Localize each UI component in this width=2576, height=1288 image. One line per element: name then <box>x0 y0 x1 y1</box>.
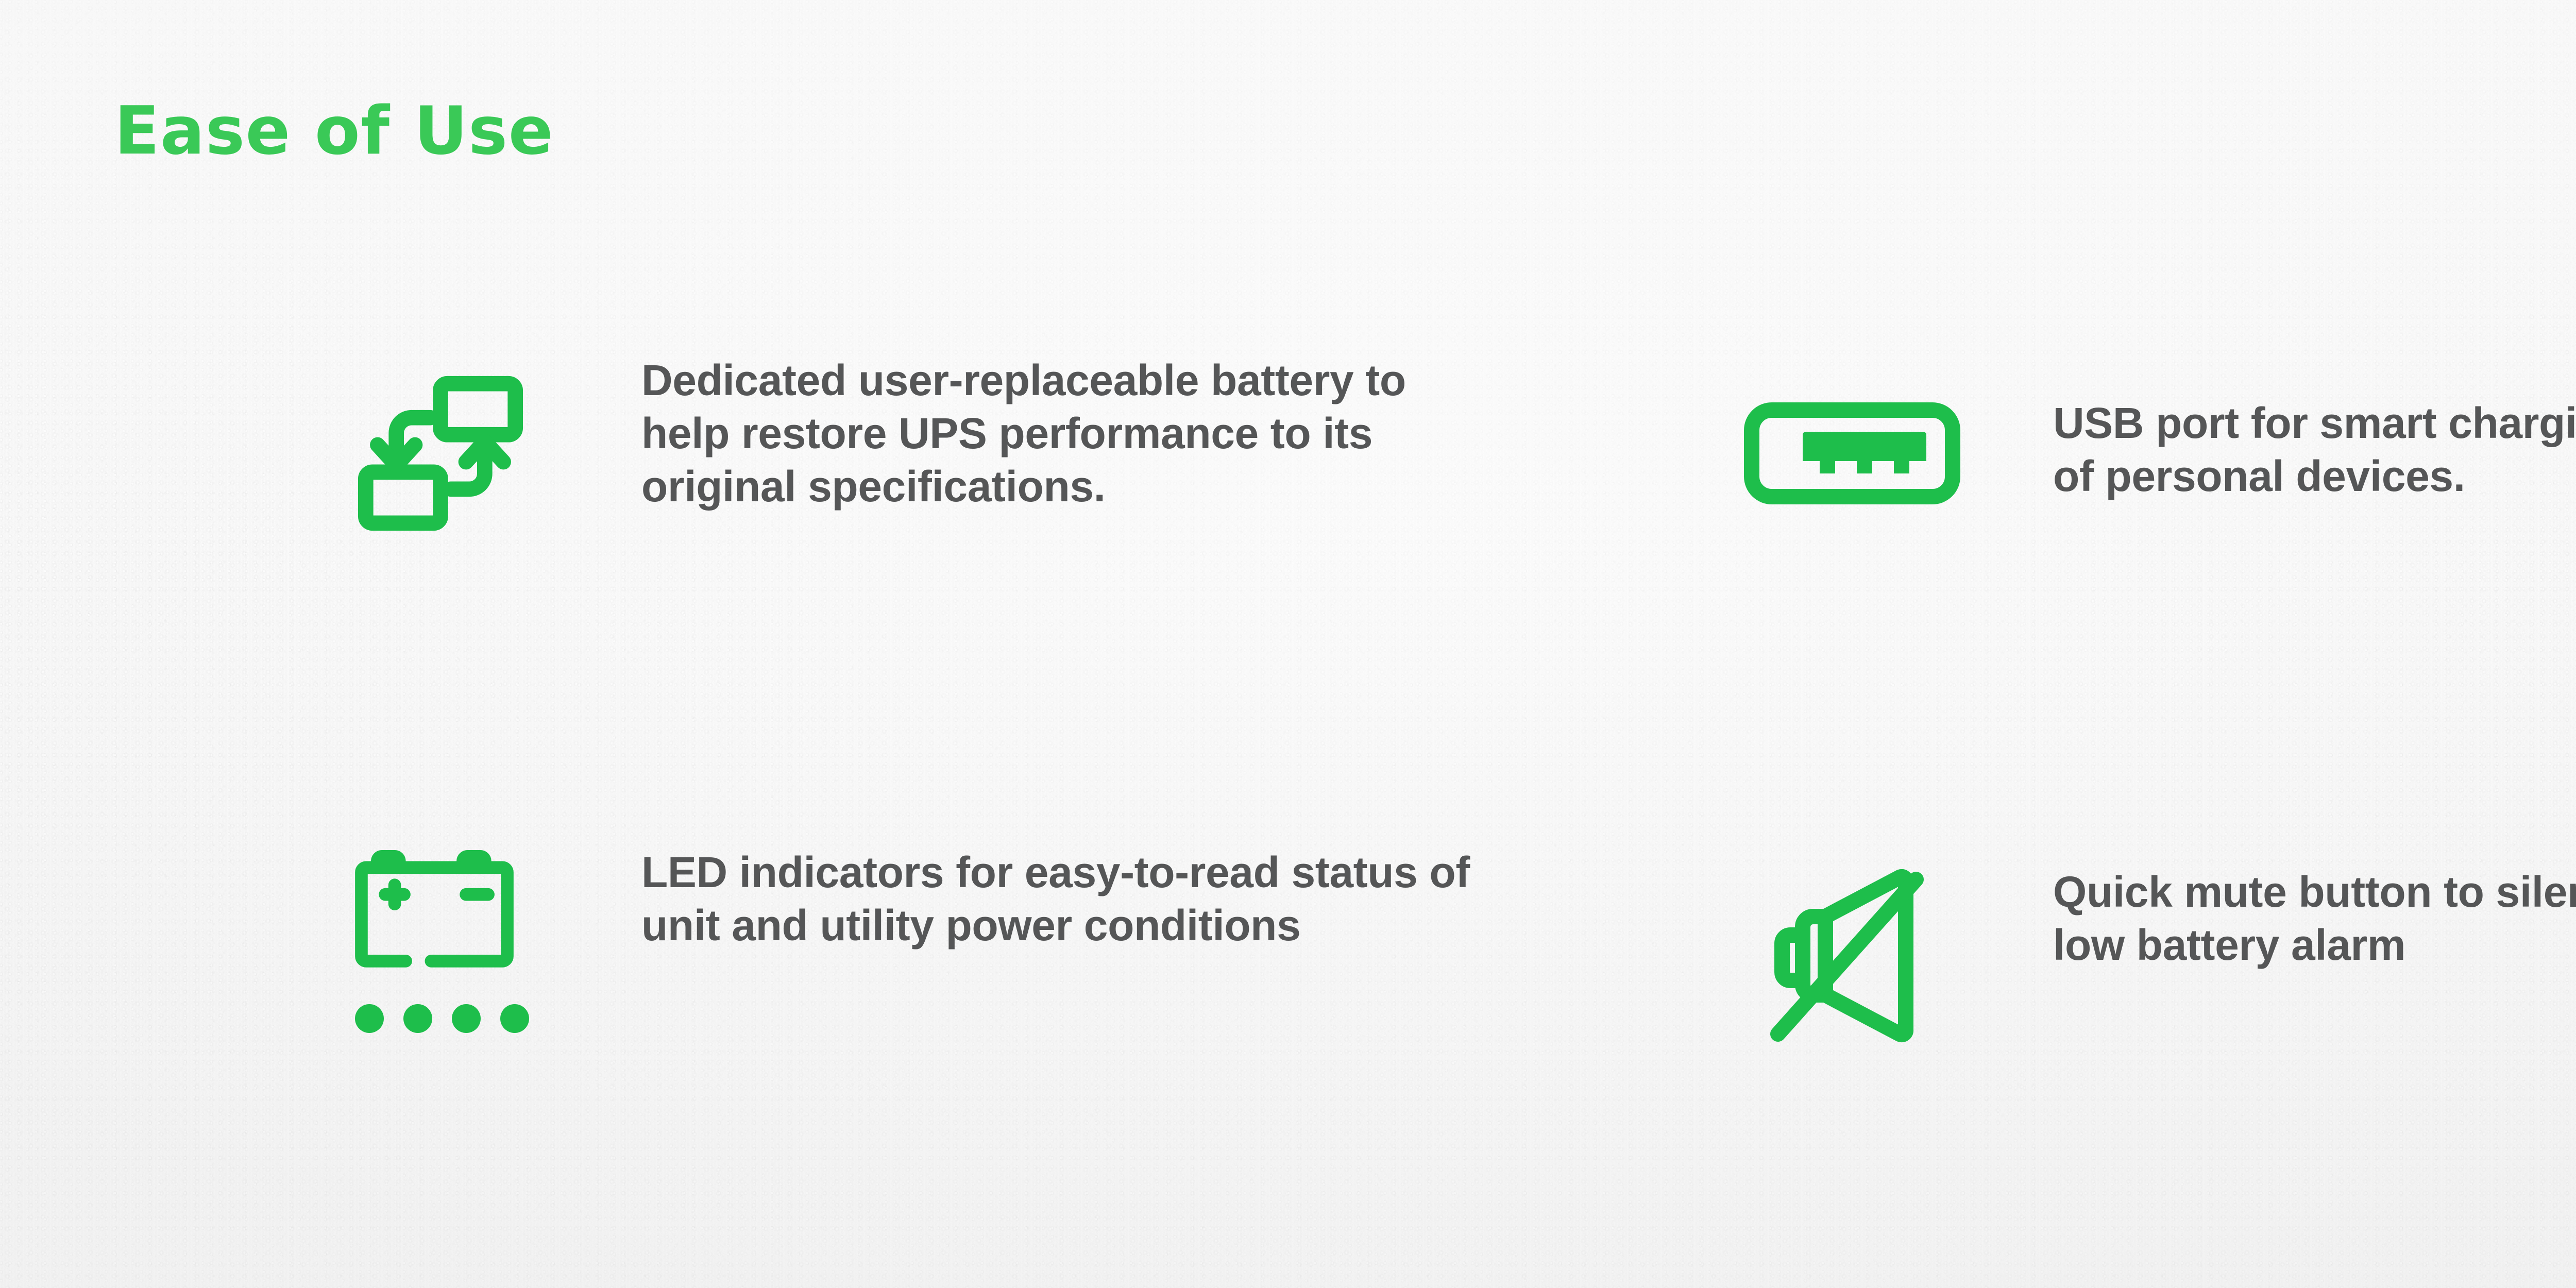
speaker-mute-icon <box>1749 853 1955 1059</box>
icon-container <box>1739 402 1965 505</box>
icon-container <box>355 848 526 1033</box>
icon-container <box>355 368 526 538</box>
usb-port-icon <box>1744 402 1960 505</box>
led-dot <box>500 1004 529 1033</box>
feature-text-mute: Quick mute button to silent low battery … <box>2053 866 2576 972</box>
battery-led-indicator-icon <box>352 848 529 1033</box>
page-canvas: Ease of Use Dedicated user-replaceable b… <box>0 0 2576 1288</box>
led-dot <box>452 1004 481 1033</box>
page-content: Ease of Use Dedicated user-replaceable b… <box>0 0 2576 1288</box>
feature-text-usb: USB port for smart charging of personal … <box>2053 397 2576 503</box>
feature-item-mute: Quick mute button to silent low battery … <box>1739 853 2576 1059</box>
icon-container <box>1739 853 1965 1059</box>
led-dots-row <box>352 1004 529 1033</box>
led-dot <box>403 1004 432 1033</box>
feature-text-battery-swap: Dedicated user-replaceable battery to he… <box>641 354 1445 513</box>
page-title: Ease of Use <box>114 96 554 167</box>
feature-item-usb: USB port for smart charging of personal … <box>1739 402 2576 505</box>
feature-item-battery-swap: Dedicated user-replaceable battery to he… <box>355 368 1445 538</box>
feature-text-led: LED indicators for easy-to-read status o… <box>641 846 1476 952</box>
feature-item-led: LED indicators for easy-to-read status o… <box>355 848 1476 1033</box>
led-dot <box>355 1004 384 1033</box>
car-battery-icon <box>352 848 517 976</box>
battery-swap-icon <box>355 368 526 538</box>
